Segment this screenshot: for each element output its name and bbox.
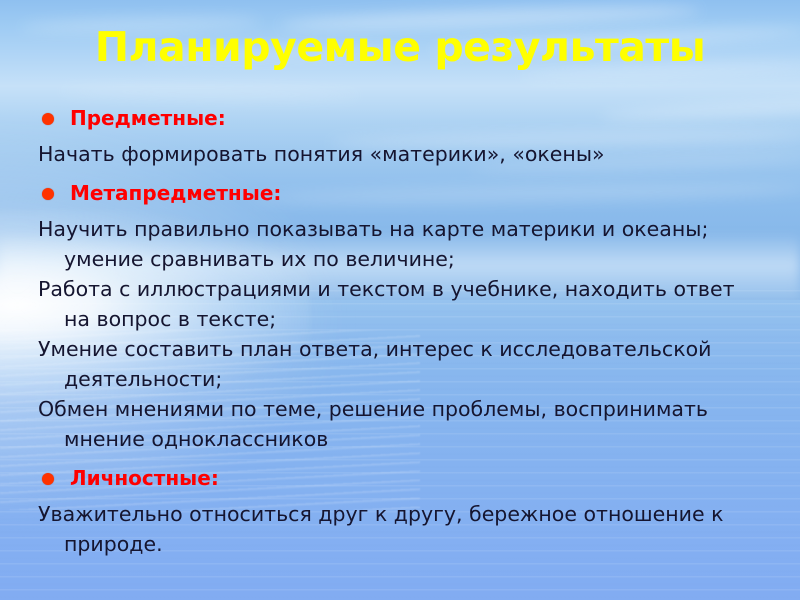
section-paragraph: Научить правильно показывать на карте ма… [38,214,762,274]
section-heading-label: Личностные: [70,466,219,490]
slide-content: Планируемые результаты Предметные: Начат… [0,0,800,600]
section-heading-predmetnye: Предметные: [38,103,762,133]
spacer [38,454,762,463]
section-paragraph: Обмен мнениями по теме, решение проблемы… [38,394,762,454]
filled-circle-bullet-icon [42,113,54,125]
presentation-slide: Планируемые результаты Предметные: Начат… [0,0,800,600]
section-paragraph: Уважительно относиться друг к другу, бер… [38,499,762,559]
section-heading-metapredmetnye: Метапредметные: [38,178,762,208]
filled-circle-bullet-icon [42,473,54,485]
filled-circle-bullet-icon [42,188,54,200]
spacer [38,169,762,178]
slide-body: Предметные: Начать формировать понятия «… [38,103,762,559]
section-paragraph: Умение составить план ответа, интерес к … [38,334,762,394]
section-heading-label: Метапредметные: [70,181,281,205]
section-heading-label: Предметные: [70,106,226,130]
section-heading-lichnostnye: Личностные: [38,463,762,493]
section-paragraph: Начать формировать понятия «материки», «… [38,139,762,169]
section-paragraph: Работа с иллюстрациями и текстом в учебн… [38,274,762,334]
slide-title: Планируемые результаты [0,23,800,71]
